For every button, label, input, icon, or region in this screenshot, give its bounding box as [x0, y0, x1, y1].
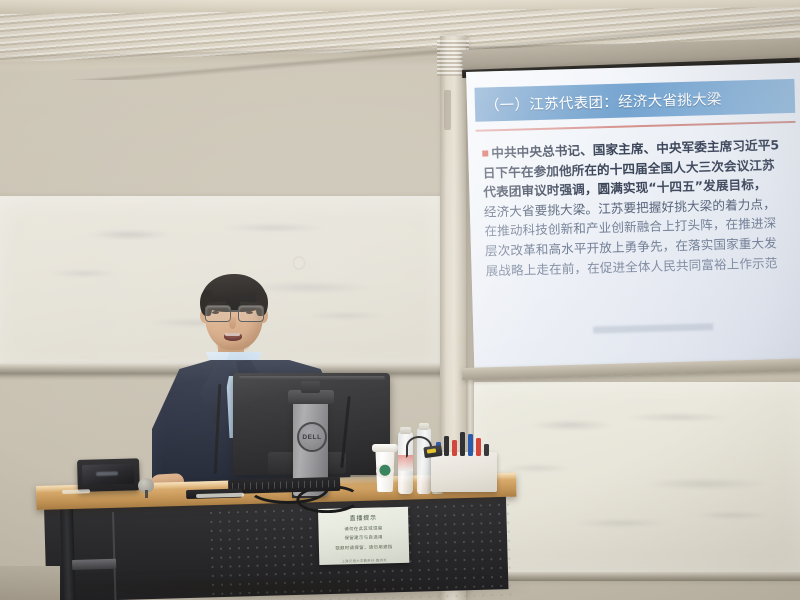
- slide-title-bar: （一）江苏代表团：经济大省挑大梁: [474, 79, 795, 122]
- desk-paper-strip-left: [62, 489, 90, 494]
- desk-notice-sign: 直播提示 请勿在此区域逗留 保留建示与自选用 视频时请保留，请勿用遮挡 上海交通…: [318, 507, 409, 565]
- wall-column-slot: [444, 90, 451, 130]
- marker-holder-box: [431, 452, 497, 492]
- chin: [216, 340, 250, 352]
- wall-pencil-mark: [288, 252, 310, 274]
- dell-logo-text: DELL: [302, 434, 321, 441]
- marker-black-1: [444, 436, 449, 456]
- slide-divider-rule: [476, 121, 796, 132]
- marker-red-2: [476, 438, 481, 456]
- slide-footer-mark: [593, 323, 713, 333]
- thin-client-top-nub: [301, 381, 320, 393]
- marker-black-3: [484, 444, 489, 456]
- whiteboard-right: [470, 382, 800, 578]
- monitor-top-edge: [239, 376, 385, 380]
- notice-sign-line-2: 保留建示与自选用: [344, 534, 382, 541]
- notice-sign-line-3: 视频时请保留，请勿用遮挡: [335, 544, 393, 551]
- floor: [0, 566, 60, 600]
- square-bullet-icon: [482, 150, 488, 156]
- water-bottle-2-cap: [419, 423, 429, 430]
- marker-red-1: [452, 440, 457, 456]
- marker-blue-2: [468, 434, 473, 456]
- water-bottle-1-cap: [400, 427, 411, 434]
- whiteboard-ghost-marks-right: [470, 382, 800, 578]
- projection-screen: （一）江苏代表团：经济大省挑大梁 中共中央总书记、国家主席、中央军委主席习近平5…: [466, 63, 800, 372]
- projection-screen-surface: （一）江苏代表团：经济大省挑大梁 中共中央总书记、国家主席、中央军委主席习近平5…: [466, 63, 800, 372]
- slide-title: （一）江苏代表团：经济大省挑大梁: [475, 87, 722, 115]
- glasses-bridge: [229, 310, 239, 312]
- dell-logo-icon: DELL: [297, 422, 327, 452]
- coffee-cup-logo-icon: [376, 464, 394, 478]
- marker-black-2: [460, 432, 465, 456]
- lectern-floor-shadow: [30, 575, 530, 600]
- glasses-lens-right: [238, 305, 264, 322]
- lectern-inner-shelf: [72, 559, 116, 570]
- notice-sign-title: 直播提示: [350, 513, 377, 523]
- nose: [229, 317, 236, 329]
- lecture-hall-scene: （一）江苏代表团：经济大省挑大梁 中共中央总书记、国家主席、中央军委主席习近平5…: [0, 0, 800, 600]
- av-control-panel-glare: [96, 471, 118, 476]
- slide-body: 中共中央总书记、国家主席、中央军委主席习近平5 日下午在参加他所在的十四届全国人…: [482, 135, 794, 281]
- microphone-stem: [145, 490, 148, 498]
- teeth: [225, 333, 240, 336]
- notice-sign-line-1: 请勿在此区域逗留: [344, 525, 382, 532]
- glasses-lens-left: [205, 305, 231, 322]
- coffee-cup-lid: [372, 444, 398, 452]
- notice-sign-footer: 上海交通大学教务处·教务处: [341, 557, 387, 563]
